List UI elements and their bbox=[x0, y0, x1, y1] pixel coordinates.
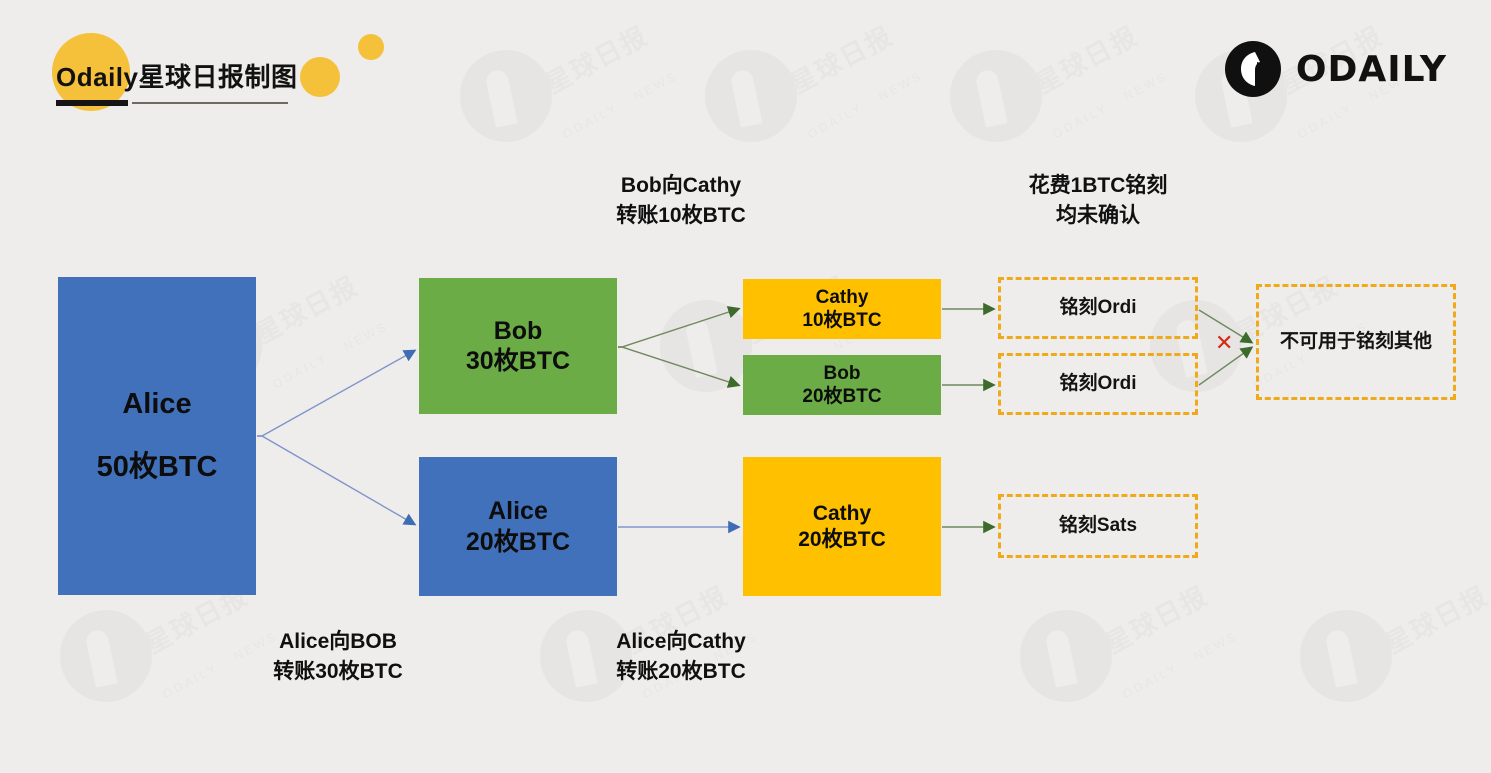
node-alice-amount: 50枚BTC bbox=[97, 450, 218, 485]
decorative-circle-small bbox=[358, 34, 384, 60]
odaily-circle-logo-icon bbox=[1224, 40, 1282, 98]
page-header: Odaily星球日报制图 ODAILY bbox=[0, 0, 1491, 140]
node-ordi1-label: 铭刻Ordi bbox=[1059, 296, 1136, 319]
title-underline-dark bbox=[56, 100, 128, 106]
node-inscribe-ordi-1[interactable]: 铭刻Ordi bbox=[998, 277, 1198, 339]
caption-alice-to-bob-line1: Alice向BOB bbox=[228, 627, 448, 657]
diagram-canvas: 星球日报 ODAILY · NEWS 星球日报 ODAILY · NEWS 星球… bbox=[0, 0, 1491, 773]
odaily-logo: ODAILY bbox=[1224, 40, 1447, 98]
node-alice-name: Alice bbox=[122, 387, 191, 422]
odaily-wordmark: ODAILY bbox=[1296, 49, 1447, 90]
node-alice20-name: Alice bbox=[488, 496, 548, 527]
node-inscribe-ordi-2[interactable]: 铭刻Ordi bbox=[998, 353, 1198, 415]
caption-alice-to-bob: Alice向BOB 转账30枚BTC bbox=[228, 627, 448, 687]
node-sats-label: 铭刻Sats bbox=[1059, 514, 1137, 537]
caption-alice-to-cathy: Alice向Cathy 转账20枚BTC bbox=[568, 627, 794, 687]
node-alice20-amount: 20枚BTC bbox=[466, 527, 570, 558]
node-bob-20btc[interactable]: Bob 20枚BTC bbox=[743, 355, 941, 415]
caption-bob-to-cathy-line1: Bob向Cathy bbox=[568, 171, 794, 201]
caption-spend-1btc-line2: 均未确认 bbox=[990, 201, 1206, 231]
node-inscribe-sats[interactable]: 铭刻Sats bbox=[998, 494, 1198, 558]
page-title: Odaily星球日报制图 bbox=[56, 57, 297, 94]
node-cathy10-amount: 10枚BTC bbox=[802, 309, 881, 332]
red-x-icon: ✕ bbox=[1215, 333, 1233, 355]
node-cathy10-name: Cathy bbox=[816, 286, 869, 309]
caption-bob-to-cathy-line2: 转账10枚BTC bbox=[568, 201, 794, 231]
node-bob20-amount: 20枚BTC bbox=[802, 385, 881, 408]
caption-alice-to-bob-line2: 转账30枚BTC bbox=[228, 657, 448, 687]
node-notavail-label: 不可用于铭刻其他 bbox=[1280, 330, 1432, 353]
node-cathy20-name: Cathy bbox=[813, 501, 871, 527]
decorative-circle-medium bbox=[300, 57, 340, 97]
node-bob-amount: 30枚BTC bbox=[466, 346, 570, 377]
node-bob-30btc[interactable]: Bob 30枚BTC bbox=[419, 278, 617, 414]
node-not-available-for-other-inscriptions[interactable]: 不可用于铭刻其他 bbox=[1256, 284, 1456, 400]
caption-bob-to-cathy: Bob向Cathy 转账10枚BTC bbox=[568, 171, 794, 231]
caption-spend-1btc-line1: 花费1BTC铭刻 bbox=[990, 171, 1206, 201]
node-alice-50btc[interactable]: Alice 50枚BTC bbox=[58, 277, 256, 595]
title-underline-light bbox=[132, 102, 288, 104]
node-bob20-name: Bob bbox=[824, 362, 861, 385]
node-cathy20-amount: 20枚BTC bbox=[798, 527, 886, 553]
node-cathy-10btc[interactable]: Cathy 10枚BTC bbox=[743, 279, 941, 339]
node-bob-name: Bob bbox=[494, 316, 543, 347]
node-alice-20btc[interactable]: Alice 20枚BTC bbox=[419, 457, 617, 596]
caption-alice-to-cathy-line1: Alice向Cathy bbox=[568, 627, 794, 657]
caption-alice-to-cathy-line2: 转账20枚BTC bbox=[568, 657, 794, 687]
node-cathy-20btc[interactable]: Cathy 20枚BTC bbox=[743, 457, 941, 596]
node-ordi2-label: 铭刻Ordi bbox=[1059, 372, 1136, 395]
caption-spend-1btc: 花费1BTC铭刻 均未确认 bbox=[990, 171, 1206, 231]
